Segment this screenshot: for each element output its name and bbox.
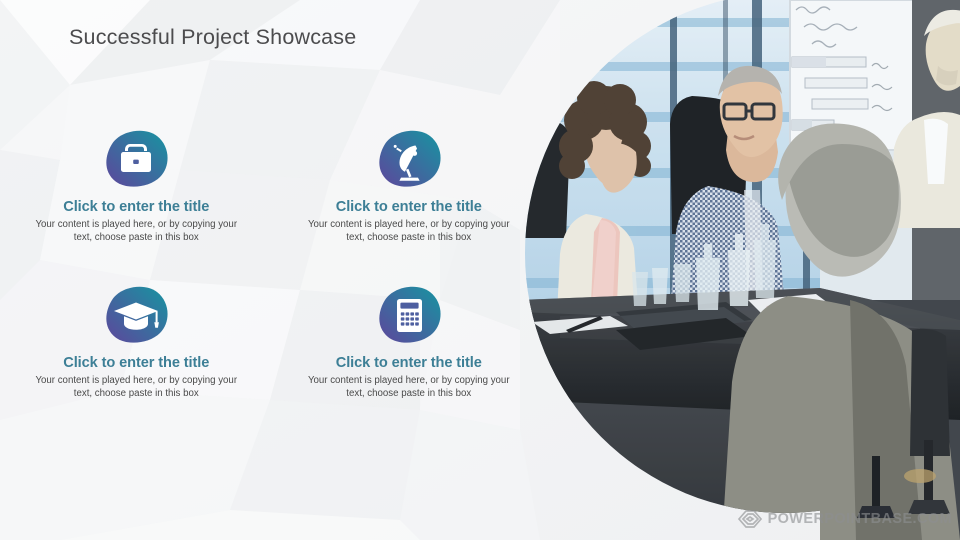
briefcase-icon (100, 128, 172, 190)
watermark-text: POWERPOINTBASE.COM (768, 511, 952, 527)
feature-body: Your content is played here, or by copyi… (34, 374, 239, 401)
meeting-photo (520, 0, 960, 540)
feature-item-satellite-dish[interactable]: Click to enter the title Your content is… (273, 128, 546, 245)
nested-diamond-logo (737, 507, 763, 531)
feature-row-top: Click to enter the title Your content is… (0, 128, 545, 245)
page-title: Successful Project Showcase (69, 25, 356, 50)
feature-row-bottom: Click to enter the title Your content is… (0, 284, 545, 401)
feature-title: Click to enter the title (63, 355, 209, 371)
feature-item-calculator[interactable]: Click to enter the title Your content is… (273, 284, 546, 401)
feature-item-briefcase[interactable]: Click to enter the title Your content is… (0, 128, 273, 245)
calculator-icon (373, 284, 445, 346)
satellite-dish-icon (373, 128, 445, 190)
feature-grid: Click to enter the title Your content is… (0, 128, 545, 401)
feature-body: Your content is played here, or by copyi… (34, 218, 239, 245)
feature-title: Click to enter the title (63, 199, 209, 215)
feature-body: Your content is played here, or by copyi… (306, 218, 511, 245)
feature-item-graduation-cap[interactable]: Click to enter the title Your content is… (0, 284, 273, 401)
feature-title: Click to enter the title (336, 199, 482, 215)
watermark: POWERPOINTBASE.COM (737, 507, 952, 531)
slide-canvas: Successful Project Showcase (0, 0, 960, 540)
feature-title: Click to enter the title (336, 355, 482, 371)
graduation-cap-icon (100, 284, 172, 346)
feature-body: Your content is played here, or by copyi… (306, 374, 511, 401)
